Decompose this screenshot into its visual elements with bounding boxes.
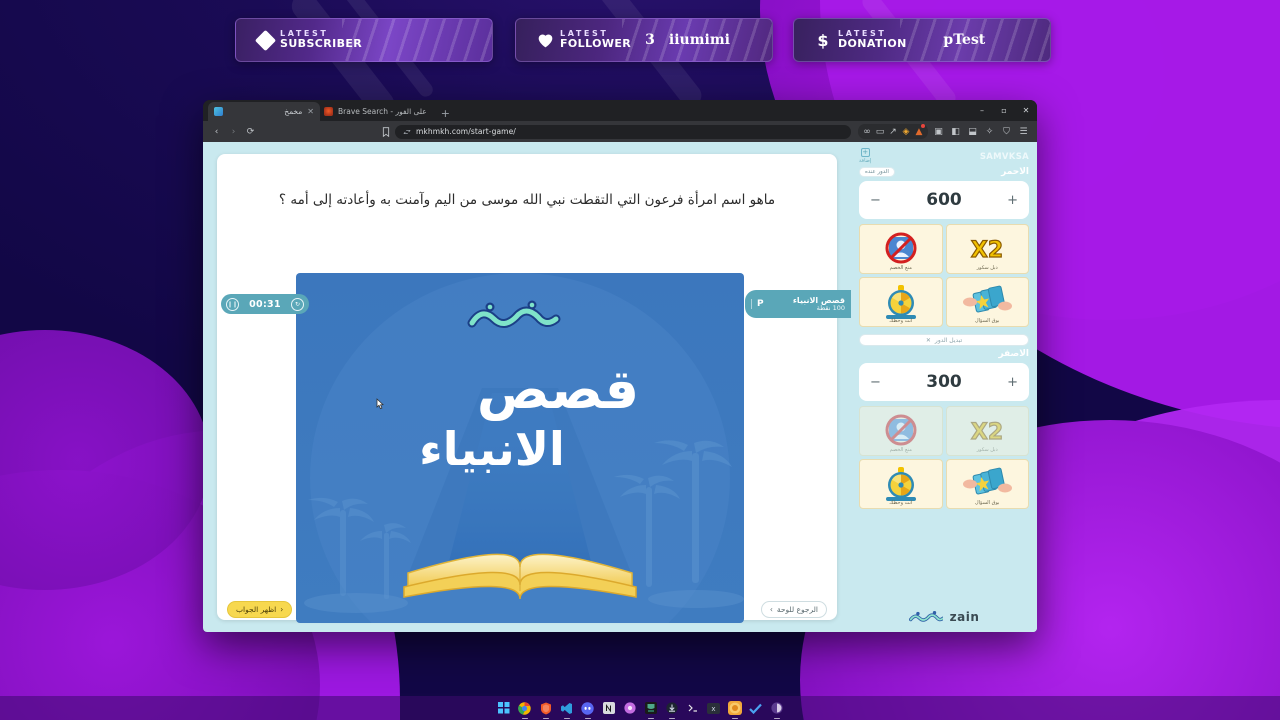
close-tab-icon[interactable]: ✕ [307,107,314,116]
site-info-icon[interactable] [402,125,411,138]
back-to-board-label: الرجوع للوحة [777,605,818,614]
reset-timer-icon[interactable]: ↻ [291,298,304,311]
share-icon[interactable]: ↗ [888,125,898,138]
svg-text:X2: X2 [971,420,1003,444]
alert-value: 3iiumimi [631,32,772,48]
powerup-grid-red: X2 دبل سكور منع الخصم [859,224,1029,327]
discord-icon[interactable] [581,701,595,715]
menu-icon[interactable]: ☰ [1017,125,1030,138]
powerup-double-score[interactable]: X2 دبل سكور [946,224,1030,274]
game-main-area: ❙❙ 00:31 ↻ قصص الانبياء 100 نقطة P ماهو … [203,142,851,632]
team-row-red: الاحمر الدور عنده [859,167,1029,177]
xbox-icon[interactable]: x [707,701,721,715]
close-window-button[interactable]: ✕ [1015,100,1037,121]
alert-value: pTest [907,32,1050,48]
alert-label-bottom: SUBSCRIBER [280,38,362,50]
extension-group[interactable]: ∞ ▭ ↗ ◈ ▲ [858,124,928,139]
minimize-button[interactable]: – [971,100,993,121]
heart-icon [530,33,560,48]
sidebar-header: SAMVKSA + إضافة [859,148,1029,164]
alert-name: iiumimi [669,32,730,48]
powerup-label: منع الخصم [860,447,942,453]
image-title-line1: قصص [477,358,639,422]
team-score: 300 [926,372,962,392]
powerup-you-and-luck[interactable]: انت وحظك [859,277,943,327]
question-image: قصص الانبياء [296,273,744,623]
obs-icon[interactable] [644,701,658,715]
tab-favicon-icon [214,107,223,116]
show-answer-label: اظهر الجواب [236,605,276,614]
sponsor-logo: zain [851,608,1037,626]
back-icon[interactable]: ‹ [210,125,223,138]
figma-icon[interactable] [623,701,637,715]
url-text: mkhmkh.com/start-game/ [416,127,516,136]
start-button-icon[interactable] [497,701,511,715]
cast-icon[interactable]: ▭ [875,125,885,138]
team-score: 600 [926,190,962,210]
brave-icon[interactable] [539,701,553,715]
split-view-icon[interactable]: ◧ [949,125,962,138]
mouse-cursor-icon [376,395,385,407]
powerup-label: دبل سكور [947,265,1029,271]
pause-icon[interactable]: ❙❙ [226,298,239,311]
latest-donation-alert: $ LATEST DONATION pTest [793,18,1051,62]
download-icon[interactable] [665,701,679,715]
alert-count: 3 [645,32,655,48]
forward-icon[interactable]: › [227,125,240,138]
active-app-icon[interactable] [728,701,742,715]
puzzle-icon[interactable]: ◈ [901,125,911,138]
powerup-label: منع الخصم [860,265,942,271]
tab-title: Brave Search - على الفور [338,107,427,116]
browser-window: مخمخ ✕ Brave Search - على الفور + – ▫ ✕ … [203,100,1037,632]
screenshot-icon[interactable]: ▣ [932,125,945,138]
stream-alert-bars: LATEST SUBSCRIBER LATEST FOLLOWER 3iiumi… [0,18,1280,62]
alert-label-bottom: FOLLOWER [560,38,631,50]
swap-icon: ✕ [926,337,931,344]
add-team-button[interactable]: + إضافة [859,148,871,164]
chevron-right-icon: › [770,605,773,614]
increase-score-button[interactable]: + [1007,375,1018,390]
powerup-you-and-luck[interactable]: انت وحظك [859,459,943,509]
decrease-score-button[interactable]: − [870,375,881,390]
notion-icon[interactable] [602,701,616,715]
bookmark-icon[interactable] [379,125,392,138]
chrome-icon[interactable] [518,701,532,715]
game-timer[interactable]: ❙❙ 00:31 ↻ [221,294,309,314]
dollar-icon: $ [808,31,838,50]
alert-decoration [342,19,492,62]
link-icon[interactable]: ∞ [862,125,872,138]
category-points: 100 نقطة [770,305,845,312]
tab-mkhmkh[interactable]: مخمخ ✕ [208,102,320,121]
team-row-yellow: الاصفر [859,349,1029,359]
team-name: الاحمر [1001,167,1029,177]
browser-toolbar: ‹ › ⟳ mkhmkh.com/start-game/ ∞ ▭ ↗ [203,121,1037,142]
show-answer-button[interactable]: ‹ اظهر الجواب [227,601,292,618]
scoreboard-sidebar: SAMVKSA + إضافة الاحمر الدور عنده + 600 … [851,142,1037,632]
question-text: ماهو اسم امرأة فرعون التي التقطت نبي الل… [233,190,821,211]
game-page: ❙❙ 00:31 ↻ قصص الانبياء 100 نقطة P ماهو … [203,142,1037,632]
latest-subscriber-alert: LATEST SUBSCRIBER [235,18,493,62]
notification-icon[interactable]: ▲ [914,125,924,138]
powerup-question-horn[interactable]: بوق السؤال [946,277,1030,327]
team-name: الاصفر [998,349,1029,359]
increase-score-button[interactable]: + [1007,193,1018,208]
latest-follower-alert: LATEST FOLLOWER 3iiumimi [515,18,773,62]
toolbar-extensions: ∞ ▭ ↗ ◈ ▲ ▣ ◧ ⬓ ✧ ⛉ ☰ [858,124,1030,139]
category-letter: P [751,299,764,309]
swap-turn-label: تبديل الدور [935,337,962,344]
decrease-score-button[interactable]: − [870,193,881,208]
category-badge: قصص الانبياء 100 نقطة P [745,290,851,318]
back-to-board-button[interactable]: الرجوع للوحة › [761,601,827,618]
svg-text:x: x [711,705,715,713]
powerup-double-score[interactable]: X2 دبل سكور [946,406,1030,456]
powerup-label: بوق السؤال [947,318,1029,324]
score-stepper-red[interactable]: + 600 − [859,181,1029,219]
terminal-icon[interactable] [686,701,700,715]
mkhmkh-logo-icon [909,608,943,626]
svg-text:X2: X2 [971,238,1003,262]
powerup-block-opponent[interactable]: منع الخصم [859,224,943,274]
windows-taskbar: x [0,696,1280,720]
vscode-icon[interactable] [560,701,574,715]
add-team-label: إضافة [859,158,871,164]
room-brand: SAMVKSA [980,152,1029,162]
screen: LATEST SUBSCRIBER LATEST FOLLOWER 3iiumi… [0,0,1280,720]
tor-icon[interactable] [770,701,784,715]
leo-ai-icon[interactable]: ✧ [983,125,996,138]
address-bar[interactable]: mkhmkh.com/start-game/ [395,125,851,139]
image-title-line2: الانبياء [419,422,565,476]
tab-brave-search[interactable]: Brave Search - على الفور [320,102,433,121]
plus-square-icon: + [861,148,870,157]
maximize-button[interactable]: ▫ [993,100,1015,121]
sidebar-icon[interactable]: ⬓ [966,125,979,138]
powerup-label: انت وحظك [860,500,942,506]
chevron-left-icon: ‹ [280,605,283,614]
tab-strip: مخمخ ✕ Brave Search - على الفور + – ▫ ✕ [203,100,1037,121]
reload-icon[interactable]: ⟳ [244,125,257,138]
powerup-block-opponent[interactable]: منع الخصم [859,406,943,456]
turn-indicator-badge: الدور عنده [859,167,895,177]
shield-icon[interactable]: ⛉ [1000,125,1013,138]
todo-check-icon[interactable] [749,701,763,715]
powerup-label: انت وحظك [860,318,942,324]
tab-title: مخمخ [228,107,302,116]
tab-favicon-icon [324,107,333,116]
diamond-icon [250,33,280,48]
powerup-question-horn[interactable]: بوق السؤال [946,459,1030,509]
window-controls: – ▫ ✕ [971,100,1037,121]
powerup-label: بوق السؤال [947,500,1029,506]
powerup-label: دبل سكور [947,447,1029,453]
timer-value: 00:31 [249,299,281,310]
swap-turn-button[interactable]: تبديل الدور ✕ [859,334,1029,346]
sponsor-name: zain [950,610,980,624]
alert-label-bottom: DONATION [838,38,907,50]
powerup-grid-yellow: X2 دبل سكور منع الخصم [859,406,1029,509]
new-tab-button[interactable]: + [433,107,458,121]
score-stepper-yellow[interactable]: + 300 − [859,363,1029,401]
